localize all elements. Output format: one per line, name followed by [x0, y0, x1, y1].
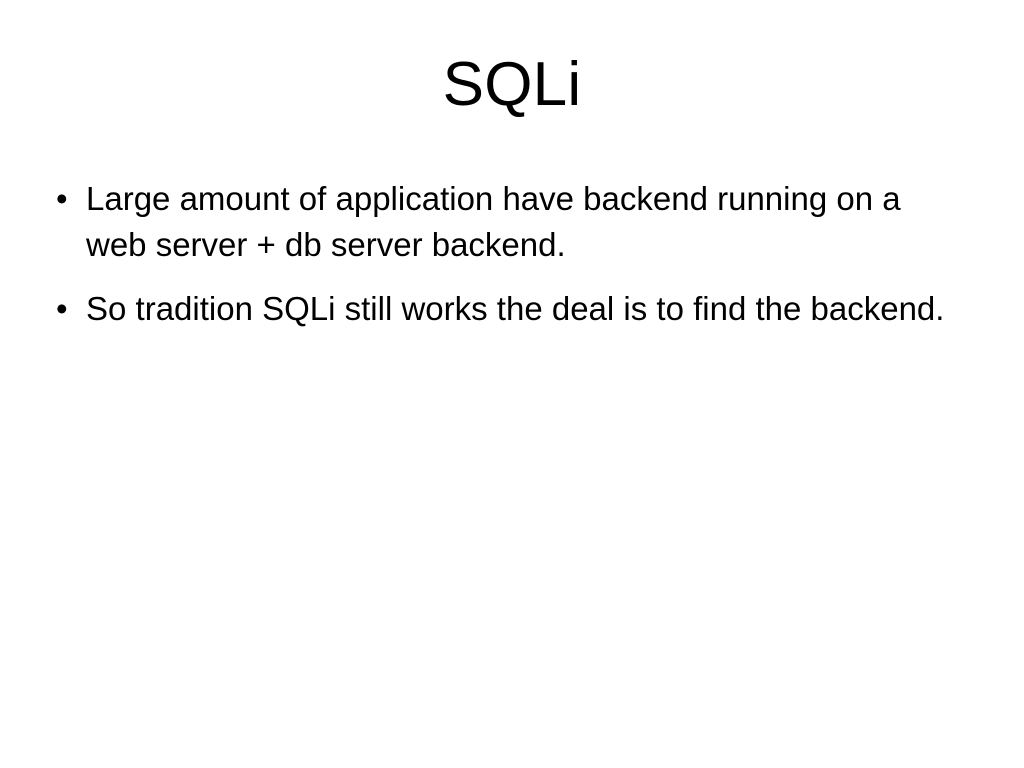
slide-title: SQLi — [0, 52, 1024, 117]
bullet-point-icon: • — [56, 176, 74, 222]
bullet-list-item: • So tradition SQLi still works the deal… — [44, 286, 956, 332]
bullet-item-text: So tradition SQLi still works the deal i… — [86, 286, 956, 332]
bullet-item-text: Large amount of application have backend… — [86, 176, 956, 268]
slide-content-body: • Large amount of application have backe… — [44, 176, 956, 332]
bullet-list-item: • Large amount of application have backe… — [44, 176, 956, 268]
presentation-slide: SQLi • Large amount of application have … — [0, 0, 1024, 768]
bullet-point-icon: • — [56, 286, 74, 332]
bullet-list: • Large amount of application have backe… — [44, 176, 956, 332]
